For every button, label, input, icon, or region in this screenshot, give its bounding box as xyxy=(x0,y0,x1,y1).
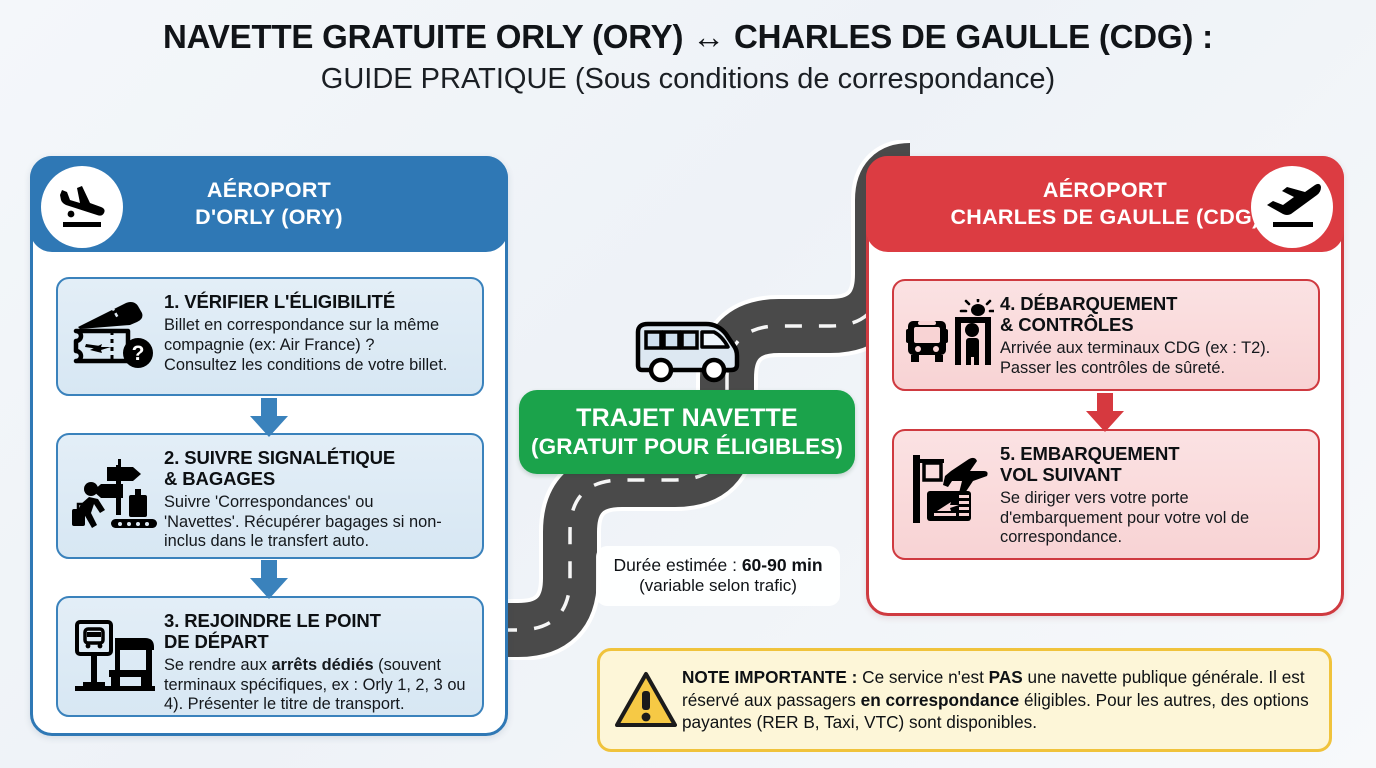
cdg-header-line1: AÉROPORT xyxy=(950,177,1259,204)
shuttle-badge-line1: TRAJET NAVETTE xyxy=(576,405,798,433)
duration-prefix: Durée estimée : xyxy=(613,555,741,575)
duration-note-line: (variable selon trafic) xyxy=(639,576,797,596)
step-3-title-line2: DE DÉPART xyxy=(164,632,469,653)
shuttle-trip-badge: TRAJET NAVETTE (GRATUIT POUR ÉLIGIBLES) xyxy=(519,390,855,474)
warning-triangle-icon xyxy=(610,671,682,729)
step-4-title-line2: & CONTRÔLES xyxy=(1000,315,1305,336)
step-5-title: 5. EMBARQUEMENT VOL SUIVANT xyxy=(1000,444,1305,486)
step-2-title-line1: 2. SUIVRE SIGNALÉTIQUE xyxy=(164,448,469,469)
arrow-step2-to-step3-icon xyxy=(246,560,292,600)
ory-panel: AÉROPORT D'ORLY (ORY) ? 1. VÉRIFIER xyxy=(30,156,508,736)
boarding-gate-sign-icon xyxy=(904,443,996,529)
step-3-title-line1: 3. REJOINDRE LE POINT xyxy=(164,611,469,632)
arrow-step4-to-step5-icon xyxy=(1082,393,1128,433)
plane-landing-icon xyxy=(54,181,110,233)
step-2-text-line1: Suivre 'Correspondances' ou xyxy=(164,493,469,513)
step-5-text-line2: d'embarquement pour votre vol de xyxy=(1000,509,1305,529)
step-3-title: 3. REJOINDRE LE POINT DE DÉPART xyxy=(164,611,469,653)
step-5-text-line1: Se diriger vers votre porte xyxy=(1000,489,1305,509)
title-main-line: NAVETTE GRATUITE ORLY (ORY) ↔ CHARLES DE… xyxy=(0,18,1376,57)
step-2-title: 2. SUIVRE SIGNALÉTIQUE & BAGAGES xyxy=(164,448,469,490)
ory-header-line1: AÉROPORT xyxy=(195,177,343,204)
duration-value: 60-90 min xyxy=(742,555,823,575)
step-card-1[interactable]: ? 1. VÉRIFIER L'ÉLIGIBILITÉ Billet en co… xyxy=(56,277,484,396)
note-label: NOTE IMPORTANTE : xyxy=(682,667,857,687)
step-3-text: Se rendre aux arrêts dédiés (souvent ter… xyxy=(164,656,469,716)
duration-pill: Durée estimée : 60-90 min (variable selo… xyxy=(596,546,840,606)
step-2-text-line2: 'Navettes'. Récupérer bagages si non- xyxy=(164,513,469,533)
ory-badge xyxy=(41,166,123,248)
note-emph1: PAS xyxy=(989,667,1023,687)
step-card-5[interactable]: 5. EMBARQUEMENT VOL SUIVANT Se diriger v… xyxy=(892,429,1320,560)
step-4-title-line1: 4. DÉBARQUEMENT xyxy=(1000,294,1305,315)
ticket-question-icon: ? xyxy=(68,291,160,369)
step-5-title-line2: VOL SUIVANT xyxy=(1000,465,1305,486)
step-2-text-line3: inclus dans le transfert auto. xyxy=(164,532,469,552)
bus-icon xyxy=(630,318,742,384)
step-2-text: Suivre 'Correspondances' ou 'Navettes'. … xyxy=(164,493,469,553)
step-card-4[interactable]: 4. DÉBARQUEMENT & CONTRÔLES Arrivée aux … xyxy=(892,279,1320,391)
note-seg1: Ce service n'est xyxy=(857,667,988,687)
step-3-text-part1: Se rendre aux xyxy=(164,656,272,674)
traveler-signpost-baggage-icon xyxy=(68,447,160,533)
shuttle-badge-line2: (GRATUIT POUR ÉLIGIBLES) xyxy=(531,434,843,459)
step-2-title-line2: & BAGAGES xyxy=(164,469,469,490)
title-sub-line: GUIDE PRATIQUE (Sous conditions de corre… xyxy=(0,62,1376,97)
plane-takeoff-icon xyxy=(1263,181,1321,233)
step-1-text: Billet en correspondance sur la même com… xyxy=(164,316,469,376)
step-4-text-line1: Arrivée aux terminaux CDG (ex : T2). xyxy=(1000,339,1305,359)
ory-header-line2: D'ORLY (ORY) xyxy=(195,204,343,231)
step-4-text: Arrivée aux terminaux CDG (ex : T2). Pas… xyxy=(1000,339,1305,379)
page-title: NAVETTE GRATUITE ORLY (ORY) ↔ CHARLES DE… xyxy=(0,18,1376,97)
step-1-text-line2: compagnie (ex: Air France) ? xyxy=(164,336,469,356)
cdg-panel: AÉROPORT CHARLES DE GAULLE (CDG) xyxy=(866,156,1344,616)
step-5-title-line1: 5. EMBARQUEMENT xyxy=(1000,444,1305,465)
step-1-text-line3: Consultez les conditions de votre billet… xyxy=(164,356,469,376)
arrow-step1-to-step2-icon xyxy=(246,398,292,438)
step-4-title: 4. DÉBARQUEMENT & CONTRÔLES xyxy=(1000,294,1305,336)
step-4-text-line2: Passer les contrôles de sûreté. xyxy=(1000,359,1305,379)
svg-text:?: ? xyxy=(132,342,145,365)
important-note-box: NOTE IMPORTANTE : Ce service n'est PAS u… xyxy=(597,648,1332,752)
step-5-text: Se diriger vers votre porte d'embarqueme… xyxy=(1000,489,1305,549)
important-note-text: NOTE IMPORTANTE : Ce service n'est PAS u… xyxy=(682,666,1315,735)
duration-main-line: Durée estimée : 60-90 min xyxy=(613,555,822,576)
step-1-text-line1: Billet en correspondance sur la même xyxy=(164,316,469,336)
cdg-header-line2: CHARLES DE GAULLE (CDG) xyxy=(950,204,1259,231)
step-1-title: 1. VÉRIFIER L'ÉLIGIBILITÉ xyxy=(164,292,469,313)
cdg-badge xyxy=(1251,166,1333,248)
bus-stop-shelter-icon xyxy=(68,610,160,694)
bus-security-gate-icon xyxy=(904,293,996,373)
step-card-3[interactable]: 3. REJOINDRE LE POINT DE DÉPART Se rendr… xyxy=(56,596,484,717)
note-emph2: en correspondance xyxy=(861,690,1020,710)
step-card-2[interactable]: 2. SUIVRE SIGNALÉTIQUE & BAGAGES Suivre … xyxy=(56,433,484,559)
step-5-text-line3: correspondance. xyxy=(1000,528,1305,548)
step-3-text-bold1: arrêts dédiés xyxy=(272,656,374,674)
